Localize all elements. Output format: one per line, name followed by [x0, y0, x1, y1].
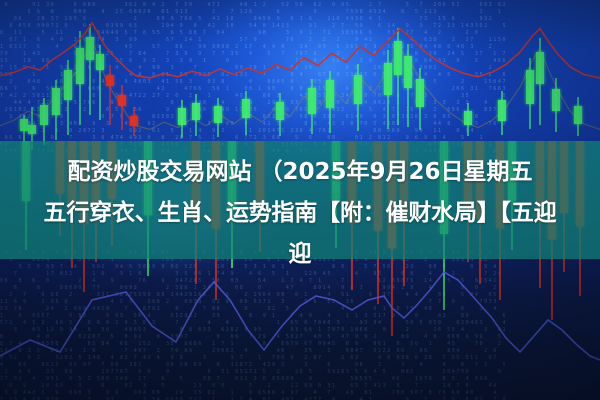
text-band-overlay [0, 141, 600, 259]
banner-image: 5 91 30 6 880 362 8 4 2 7 50 471 46 1 2 … [0, 0, 600, 400]
